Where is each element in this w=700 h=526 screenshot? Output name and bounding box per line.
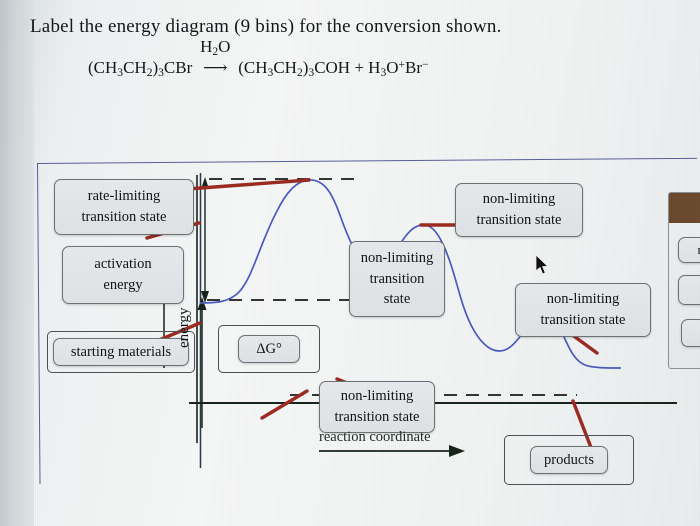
bin-non-limiting-transition-state-1[interactable]: non-limiting transition state bbox=[349, 241, 445, 317]
bin-line: energy bbox=[103, 275, 142, 296]
bin-line: non-limiting bbox=[341, 386, 414, 407]
energy-diagram-plot: rate-limiting transition state activatio… bbox=[37, 163, 700, 526]
reaction-coordinate-label: reaction coordinate bbox=[319, 429, 431, 446]
connector-delta-g bbox=[262, 391, 307, 418]
bin-products[interactable]: products bbox=[530, 446, 608, 474]
equation-reagent: H2O bbox=[200, 37, 230, 58]
bin-line: non-limiting bbox=[361, 248, 434, 269]
bin-line: rate-limiting bbox=[88, 186, 160, 207]
bin-starting-materials[interactable]: starting materials bbox=[53, 338, 189, 366]
reaction-coordinate-arrowhead bbox=[449, 445, 465, 457]
bin-non-limiting-transition-state-3[interactable]: non-limiting transition state bbox=[515, 283, 651, 337]
side-panel: no bbox=[668, 192, 700, 369]
side-panel-header bbox=[669, 193, 700, 223]
bin-non-limiting-transition-state-2[interactable]: non-limiting transition state bbox=[455, 183, 583, 237]
bin-delta-g[interactable]: ΔG° bbox=[238, 335, 300, 363]
energy-axis-label: energy bbox=[176, 307, 193, 348]
bin-line: state bbox=[384, 289, 411, 310]
side-panel-item-empty-2[interactable] bbox=[681, 319, 700, 347]
side-panel-item-empty-1[interactable] bbox=[678, 275, 700, 305]
bin-non-limiting-transition-state-4[interactable]: non-limiting transition state bbox=[319, 381, 435, 433]
equation-reactant: (CH3CH2)3CBr bbox=[88, 58, 192, 77]
bin-activation-energy[interactable]: activation energy bbox=[62, 246, 184, 304]
bin-line: transition bbox=[370, 269, 425, 290]
arrow-icon: ⟶ bbox=[192, 58, 238, 78]
bin-line: transition state bbox=[477, 210, 562, 231]
mouse-cursor bbox=[536, 255, 550, 275]
bin-rate-limiting-transition-state[interactable]: rate-limiting transition state bbox=[54, 179, 194, 235]
bin-line: transition state bbox=[335, 407, 420, 428]
bin-line: transition state bbox=[82, 207, 167, 228]
reaction-arrow-group: H2O⟶ bbox=[192, 58, 238, 78]
bin-outer-starting-materials[interactable]: starting materials bbox=[47, 331, 195, 373]
page-left-edge bbox=[0, 0, 34, 526]
side-panel-item-clipped[interactable]: no bbox=[678, 237, 700, 263]
bin-line: activation bbox=[94, 254, 151, 275]
bin-line: non-limiting bbox=[547, 289, 620, 310]
bin-line: non-limiting bbox=[483, 189, 556, 210]
bin-line: starting materials bbox=[71, 342, 171, 363]
page-title: Label the energy diagram (9 bins) for th… bbox=[30, 16, 670, 38]
bin-line: ΔG° bbox=[256, 339, 282, 360]
bin-outer-delta-g[interactable]: ΔG° bbox=[218, 325, 320, 373]
bin-line: products bbox=[544, 450, 594, 471]
equation-products: (CH3CH2)3COH + H3O+Br− bbox=[238, 58, 428, 77]
bin-outer-products[interactable]: products bbox=[504, 435, 634, 485]
chemical-equation: (CH3CH2)3CBrH2O⟶(CH3CH2)3COH + H3O+Br− bbox=[88, 58, 608, 79]
photographed-page: Label the energy diagram (9 bins) for th… bbox=[0, 0, 700, 526]
bin-line: transition state bbox=[541, 310, 626, 331]
